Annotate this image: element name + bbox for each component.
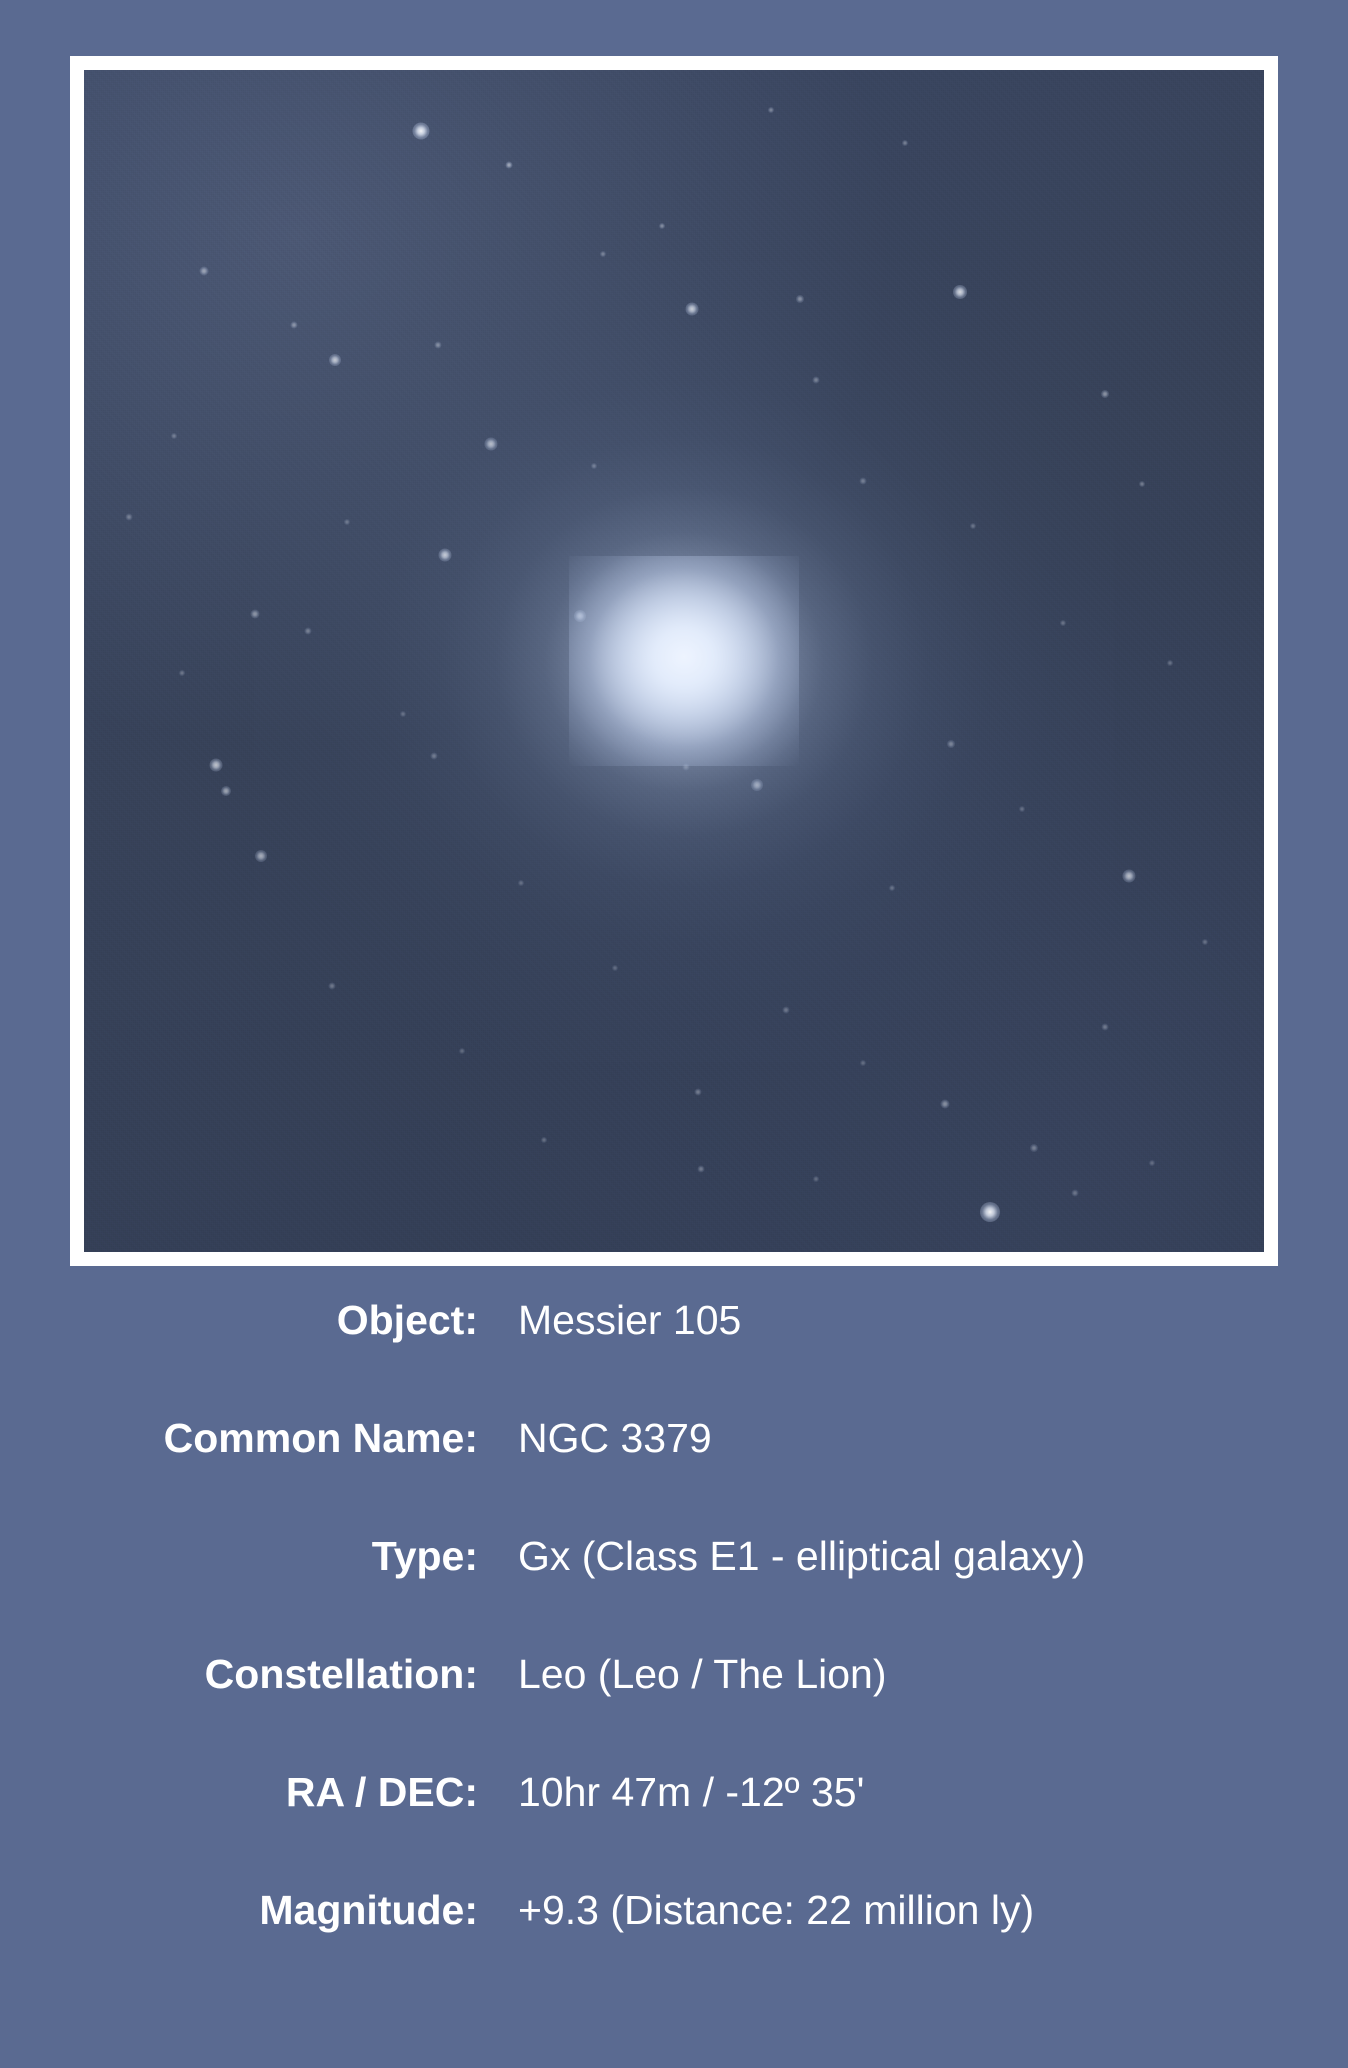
info-label-common-name: Common Name:: [0, 1418, 478, 1459]
info-row-magnitude: Magnitude: +9.3 (Distance: 22 million ly…: [0, 1890, 1348, 2008]
info-row-object: Object: Messier 105: [0, 1300, 1348, 1418]
object-info-table: Object: Messier 105 Common Name: NGC 337…: [0, 1300, 1348, 2008]
sky-noise-texture: [84, 70, 1264, 1252]
info-row-ra-dec: RA / DEC: 10hr 47m / -12º 35': [0, 1772, 1348, 1890]
info-label-constellation: Constellation:: [0, 1654, 478, 1695]
info-label-magnitude: Magnitude:: [0, 1890, 478, 1931]
info-value-object: Messier 105: [478, 1300, 741, 1341]
info-row-type: Type: Gx (Class E1 - elliptical galaxy): [0, 1536, 1348, 1654]
info-value-type: Gx (Class E1 - elliptical galaxy): [478, 1536, 1085, 1577]
info-value-common-name: NGC 3379: [478, 1418, 712, 1459]
info-label-ra-dec: RA / DEC:: [0, 1772, 478, 1813]
info-label-type: Type:: [0, 1536, 478, 1577]
info-value-magnitude: +9.3 (Distance: 22 million ly): [478, 1890, 1034, 1931]
galaxy-photograph: [84, 70, 1264, 1252]
info-row-constellation: Constellation: Leo (Leo / The Lion): [0, 1654, 1348, 1772]
info-value-ra-dec: 10hr 47m / -12º 35': [478, 1772, 864, 1813]
info-label-object: Object:: [0, 1300, 478, 1341]
info-row-common-name: Common Name: NGC 3379: [0, 1418, 1348, 1536]
info-value-constellation: Leo (Leo / The Lion): [478, 1654, 887, 1695]
astronomy-object-card: Object: Messier 105 Common Name: NGC 337…: [0, 0, 1348, 2068]
photo-frame: [70, 56, 1278, 1266]
